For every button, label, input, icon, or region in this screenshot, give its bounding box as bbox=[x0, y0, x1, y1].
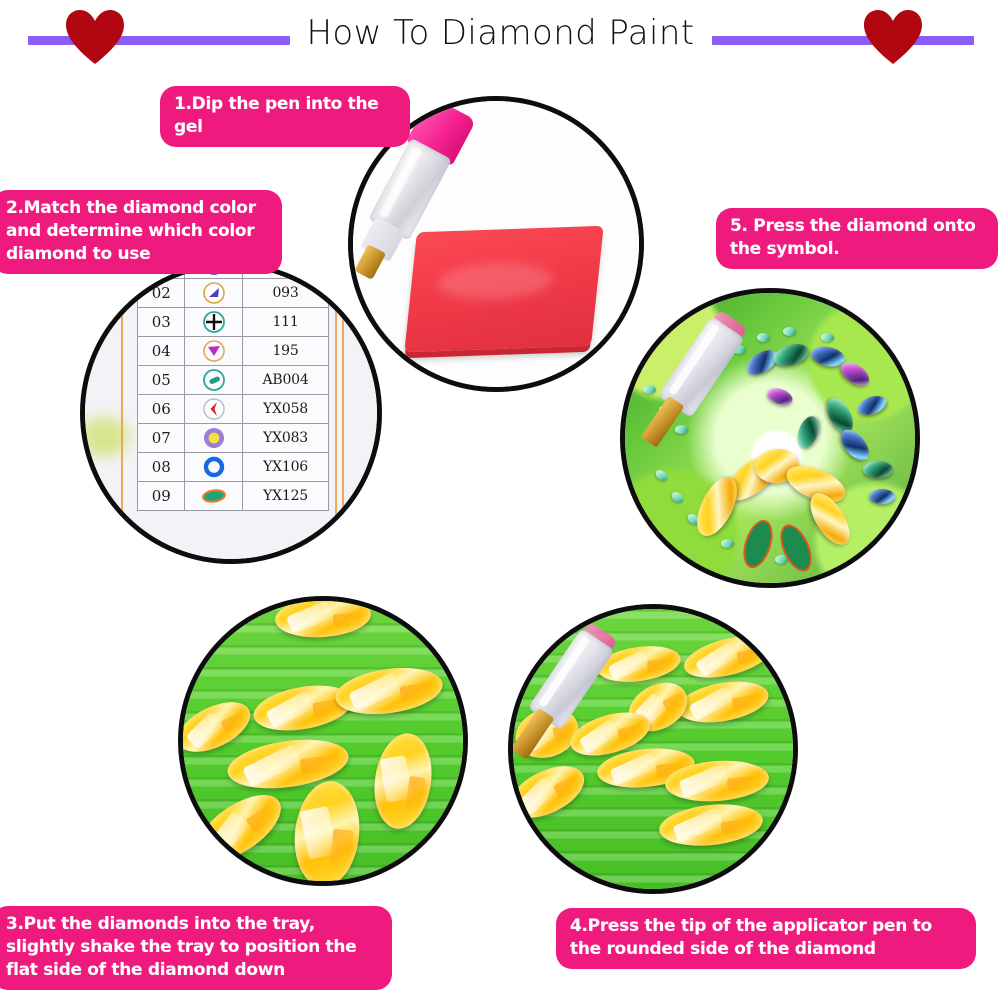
magenta-triangle-circle-icon bbox=[185, 338, 242, 364]
chart-number: 05 bbox=[138, 366, 185, 395]
chevron-left-circle-icon bbox=[185, 396, 242, 422]
guide-line bbox=[335, 267, 337, 559]
diamond-pressed-on-canvas-photo bbox=[625, 293, 915, 583]
infographic-page: How To Diamond Paint bbox=[0, 0, 1001, 1001]
step-2-label: 2.Match the diamond color and determine … bbox=[0, 190, 282, 274]
chart-number: 09 bbox=[138, 482, 185, 511]
chart-number: 03 bbox=[138, 308, 185, 337]
chart-number: 07 bbox=[138, 424, 185, 453]
chart-code: 195 bbox=[243, 337, 329, 366]
step-4-label: 4.Press the tip of the applicator pen to… bbox=[556, 908, 976, 969]
diamond-color-chart-photo: 028 02 093 03 bbox=[85, 267, 377, 559]
chart-code: AB004 bbox=[243, 366, 329, 395]
diamonds-in-tray-photo bbox=[183, 601, 463, 881]
table-row: 05 AB004 bbox=[138, 366, 329, 395]
blue-ring-icon bbox=[185, 454, 242, 480]
chart-symbol bbox=[185, 279, 243, 308]
chart-number: 08 bbox=[138, 453, 185, 482]
step-4-photo bbox=[508, 604, 798, 894]
table-row: 03 111 bbox=[138, 308, 329, 337]
chart-symbol bbox=[185, 482, 243, 511]
chart-code: YX058 bbox=[243, 395, 329, 424]
guide-line bbox=[342, 267, 344, 559]
paper-smudge bbox=[81, 503, 115, 529]
chart-symbol bbox=[185, 395, 243, 424]
chart-code: 111 bbox=[243, 308, 329, 337]
chart-symbol bbox=[185, 308, 243, 337]
chart-code: YX083 bbox=[243, 424, 329, 453]
table-row: 09 YX125 bbox=[138, 482, 329, 511]
page-header: How To Diamond Paint bbox=[0, 0, 1001, 72]
chart-symbol bbox=[185, 424, 243, 453]
chart-number: 06 bbox=[138, 395, 185, 424]
table-row: 04 195 bbox=[138, 337, 329, 366]
chart-code: 093 bbox=[243, 279, 329, 308]
step-3-label: 3.Put the diamonds into the tray, slight… bbox=[0, 906, 392, 990]
table-row: 07 YX083 bbox=[138, 424, 329, 453]
step-5-label: 5. Press the diamond onto the symbol. bbox=[716, 208, 998, 269]
chart-symbol bbox=[185, 337, 243, 366]
table-row: 02 093 bbox=[138, 279, 329, 308]
step-2-photo: 028 02 093 03 bbox=[80, 262, 382, 564]
table-row: 06 YX058 bbox=[138, 395, 329, 424]
table-row: 08 YX106 bbox=[138, 453, 329, 482]
plus-circle-icon bbox=[185, 309, 242, 335]
step-5-photo bbox=[620, 288, 920, 588]
guide-line bbox=[121, 267, 123, 559]
green-leaf-icon bbox=[185, 483, 242, 509]
chart-symbol bbox=[185, 366, 243, 395]
chart-code: YX106 bbox=[243, 453, 329, 482]
chart-code: YX125 bbox=[243, 482, 329, 511]
capsule-circle-icon bbox=[185, 367, 242, 393]
gel-block bbox=[404, 226, 603, 352]
color-chart-table: 028 02 093 03 bbox=[137, 262, 329, 511]
triangle-circle-icon bbox=[185, 280, 242, 306]
pen-tip bbox=[511, 708, 555, 760]
step-3-photo bbox=[178, 596, 468, 886]
step-1-label: 1.Dip the pen into the gel bbox=[160, 86, 410, 147]
dot-ring-circle-icon bbox=[185, 425, 242, 451]
page-title: How To Diamond Paint bbox=[0, 8, 1001, 58]
pen-tip bbox=[641, 396, 685, 448]
pen-picking-up-diamond-photo bbox=[513, 609, 793, 889]
chart-number: 02 bbox=[138, 279, 185, 308]
chart-symbol bbox=[185, 453, 243, 482]
chart-number: 04 bbox=[138, 337, 185, 366]
